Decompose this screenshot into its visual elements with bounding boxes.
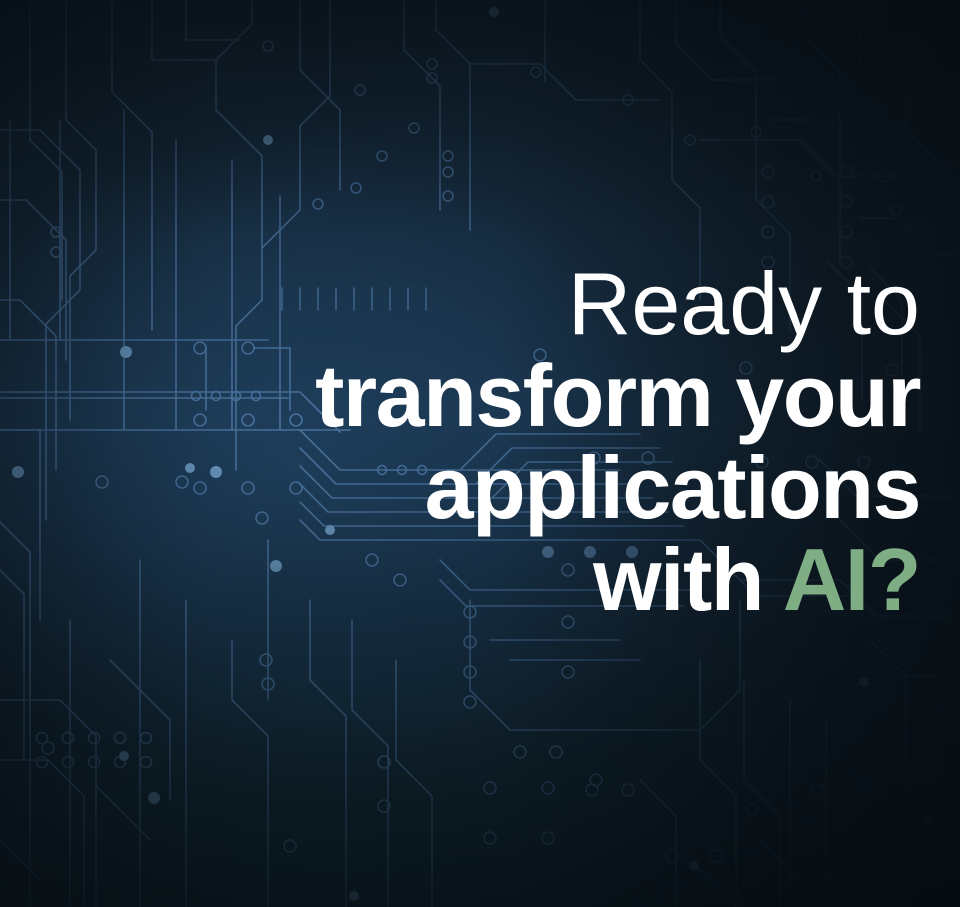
headline-line-4: with AI? bbox=[200, 534, 920, 626]
headline-accent-ai: AI? bbox=[783, 530, 920, 629]
headline-line-3: applications bbox=[200, 442, 920, 534]
headline-line-4-prefix: with bbox=[593, 530, 783, 629]
headline-line-2: transform your bbox=[200, 350, 920, 442]
promo-banner: Ready to transform your applications wit… bbox=[0, 0, 960, 907]
headline-line-1: Ready to bbox=[200, 258, 920, 350]
headline: Ready to transform your applications wit… bbox=[200, 258, 920, 626]
